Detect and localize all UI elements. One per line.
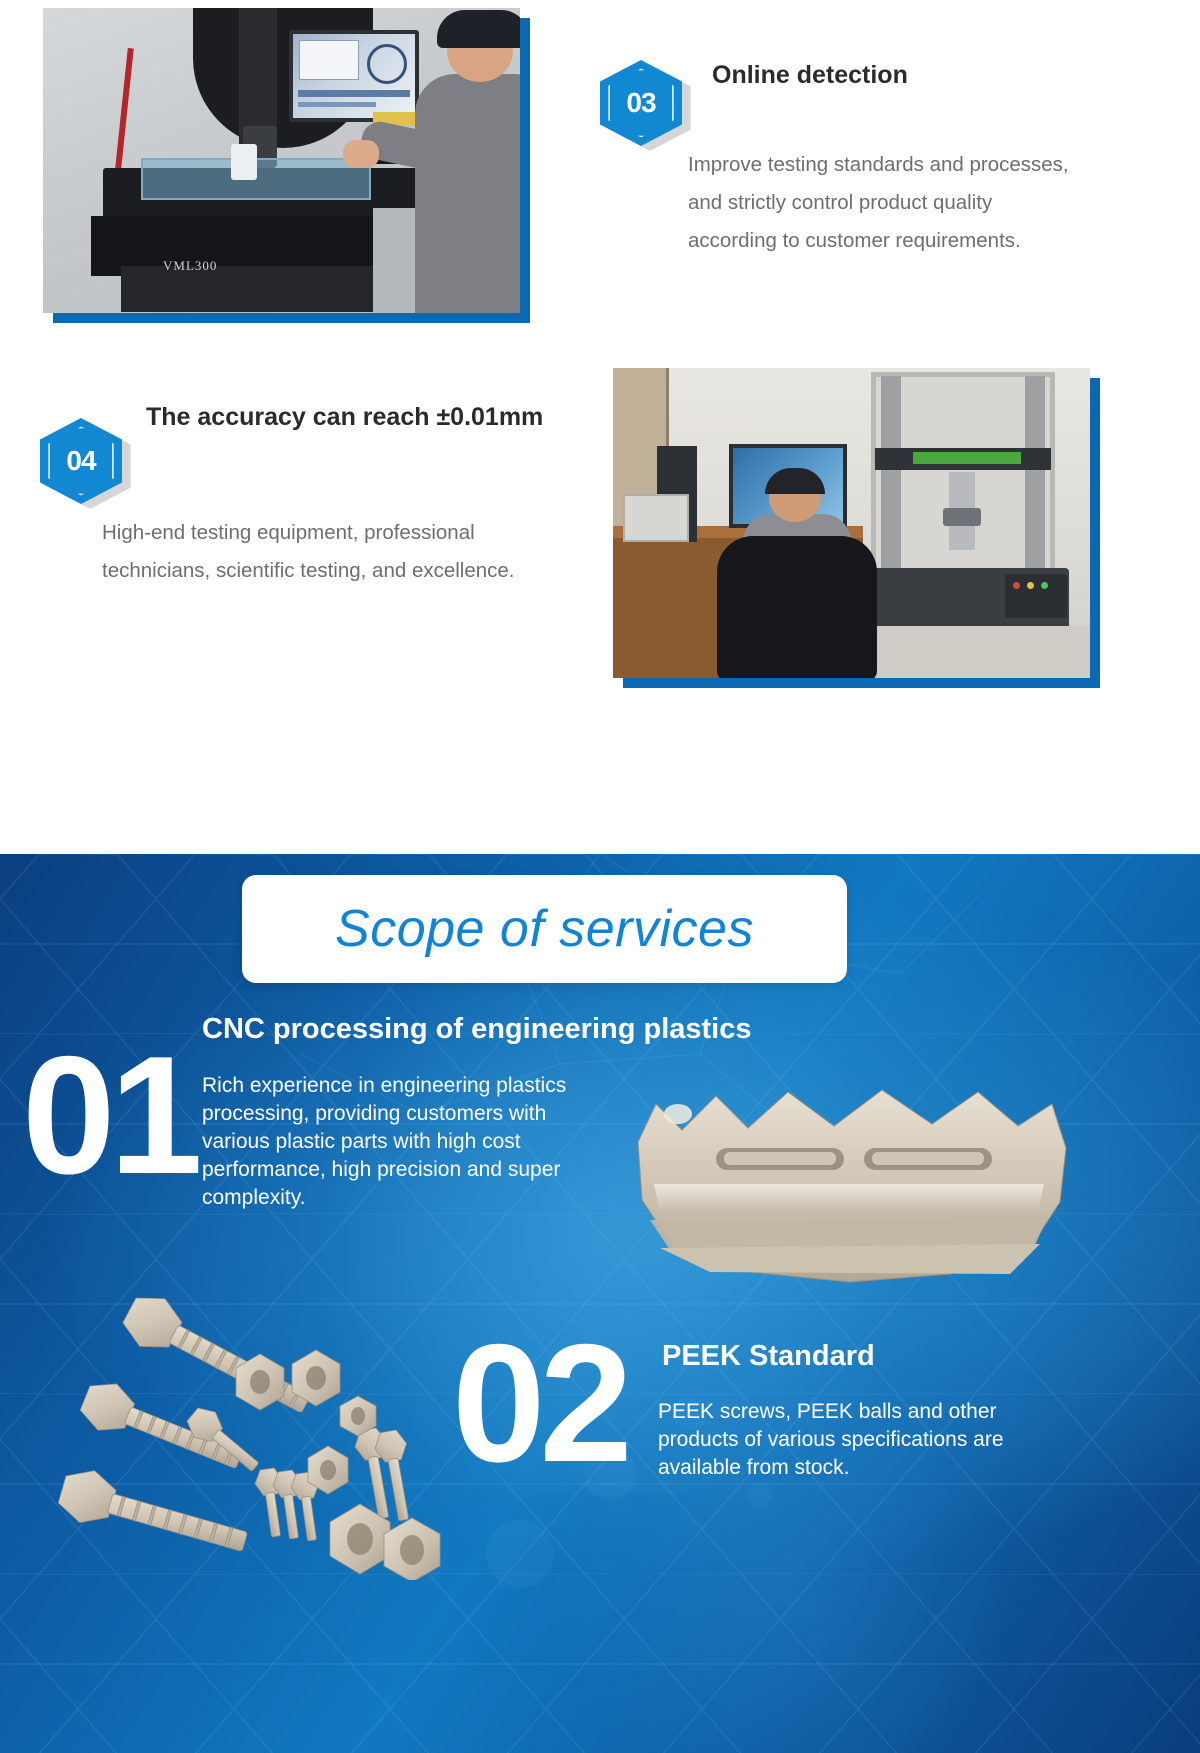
peek-screws-photo: [40, 1280, 460, 1580]
hexagon-badge-icon: 03: [600, 60, 682, 146]
page-title: Scope of services: [335, 899, 754, 959]
photo-image: VML300: [43, 8, 520, 313]
feature-body: High-end testing equipment, professional…: [102, 514, 542, 590]
feature-title: Online detection: [712, 58, 1092, 94]
service-body-02: PEEK screws, PEEK balls and other produc…: [658, 1398, 1068, 1482]
promo-page: VML300 03 Online detection Improve t: [0, 0, 1200, 1753]
tensile-testing-photo: [613, 368, 1090, 678]
service-title-01: CNC processing of engineering plastics: [202, 1013, 962, 1046]
badge-number: 03: [600, 60, 682, 146]
online-detection-photo: VML300: [43, 8, 520, 313]
feature-body: Improve testing standards and processes,…: [688, 146, 1078, 260]
badge-number: 04: [40, 418, 122, 504]
peek-chain-guide-photo: [620, 1052, 1080, 1302]
service-number-01: 01: [22, 1040, 197, 1191]
feature-title: The accuracy can reach ±0.01mm: [146, 400, 546, 436]
scope-title-card: Scope of services: [242, 875, 847, 983]
service-title-02: PEEK Standard: [662, 1340, 1082, 1373]
hexagon-badge-icon: 04: [40, 418, 122, 504]
service-body-01: Rich experience in engineering plastics …: [202, 1072, 610, 1212]
features-section: VML300 03 Online detection Improve t: [0, 0, 1200, 854]
service-number-02: 02: [452, 1328, 627, 1479]
photo-image: [613, 368, 1090, 678]
